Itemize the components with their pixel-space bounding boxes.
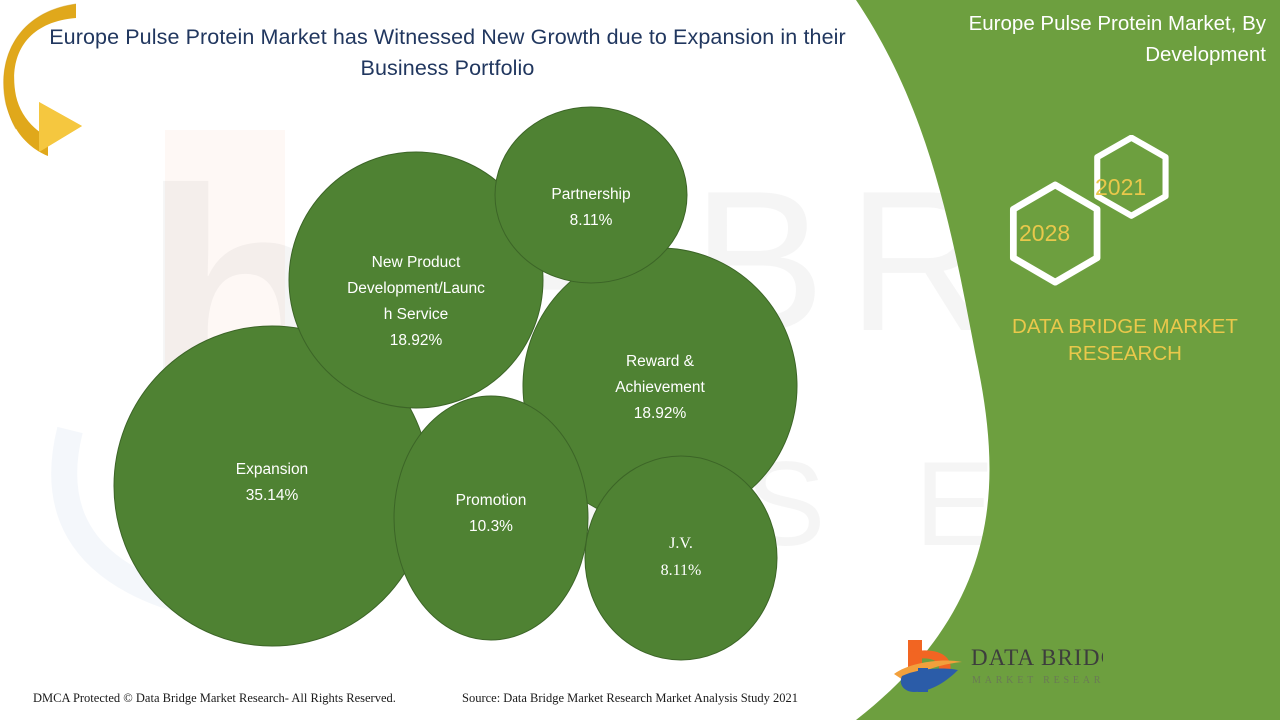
bubble-promotion[interactable] bbox=[394, 396, 588, 640]
hexagon-pair bbox=[985, 135, 1185, 295]
bubble-chart bbox=[0, 0, 900, 720]
brand-name: DATA BRIDGE MARKET RESEARCH bbox=[965, 313, 1280, 367]
bubble-jv[interactable] bbox=[585, 456, 777, 660]
data-bridge-logo: DATA BRIDGE MARKET RESEARCH bbox=[888, 632, 1103, 702]
logo-primary-text: DATA BRIDGE bbox=[971, 645, 1103, 670]
footer-source: Source: Data Bridge Market Research Mark… bbox=[462, 691, 798, 706]
logo-secondary-text: MARKET RESEARCH bbox=[972, 675, 1103, 686]
brand-line-2: RESEARCH bbox=[1068, 342, 1182, 365]
curved-arrow-icon bbox=[0, 0, 118, 171]
bubble-partnership[interactable] bbox=[495, 107, 687, 283]
logo-mark-icon bbox=[894, 640, 962, 692]
page-title: Europe Pulse Protein Market has Witnesse… bbox=[30, 22, 865, 84]
hexagon-year-2021: 2021 bbox=[1095, 174, 1146, 201]
infographic-slide: b A BRIDGE R E S E A R C H Europe Pulse … bbox=[0, 0, 1280, 720]
brand-line-1: DATA BRIDGE MARKET bbox=[1012, 315, 1238, 338]
hexagon-year-2028: 2028 bbox=[1019, 220, 1070, 247]
panel-title: Europe Pulse Protein Market, By Developm… bbox=[896, 8, 1266, 70]
footer-dmca: DMCA Protected © Data Bridge Market Rese… bbox=[33, 691, 396, 706]
